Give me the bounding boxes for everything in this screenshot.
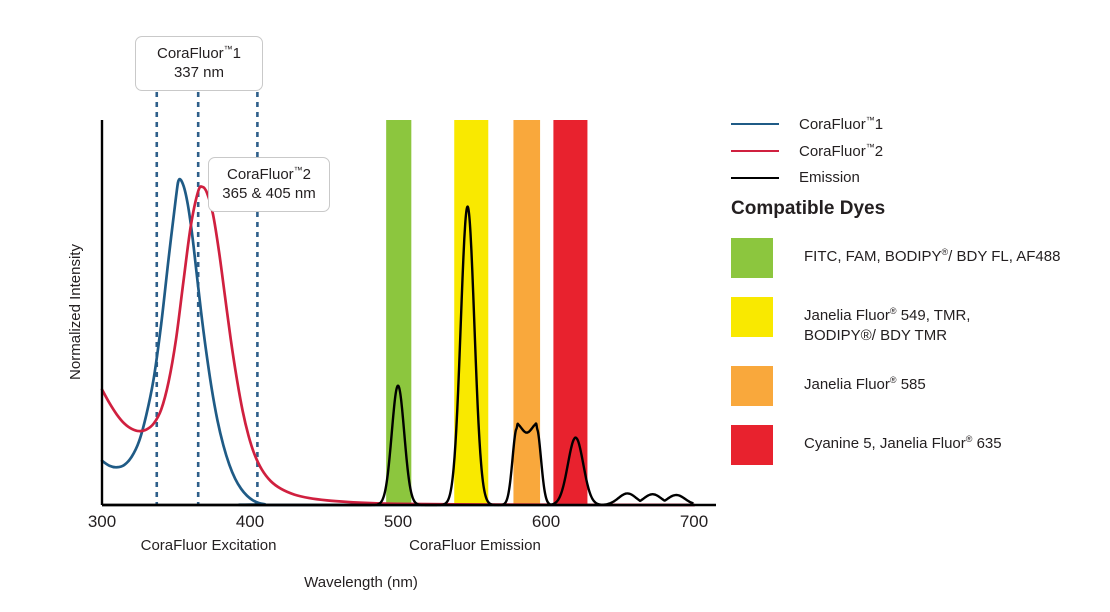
y-axis-title: Normalized Intensity: [67, 244, 84, 380]
plot-area: 300400500600700CoraFluor ExcitationCoraF…: [0, 0, 740, 612]
dye-label: FITC, FAM, BODIPY®/ BDY FL, AF488: [804, 238, 1060, 267]
legend-line-swatch: [731, 150, 779, 152]
callout1-line2: 337 nm: [149, 63, 249, 82]
trademark-symbol: ™: [294, 165, 303, 175]
callout2-line1: CoraFluor™2: [227, 166, 311, 183]
dye-color-swatch: [731, 366, 773, 406]
dye-label: Cyanine 5, Janelia Fluor® 635: [804, 425, 1002, 454]
legend-line-swatch: [731, 177, 779, 179]
callout2-line2: 365 & 405 nm: [222, 184, 316, 203]
x-tick-label-500: 500: [384, 512, 412, 531]
legend-label: CoraFluor™1: [799, 115, 883, 133]
x-tick-label-700: 700: [680, 512, 708, 531]
x-tick-label-300: 300: [88, 512, 116, 531]
dye-item-orange: Janelia Fluor® 585: [731, 366, 1106, 406]
series-legend: CoraFluor™1 CoraFluor™2 Emission: [731, 110, 1101, 191]
compatible-dyes-title: Compatible Dyes: [731, 198, 1106, 220]
trademark-symbol: ™: [866, 142, 875, 152]
callout-corafluor1: CoraFluor™1 337 nm: [135, 36, 263, 91]
dye-item-red: Cyanine 5, Janelia Fluor® 635: [731, 425, 1106, 465]
dye-label: Janelia Fluor® 549, TMR,BODIPY®/ BDY TMR: [804, 297, 970, 347]
dye-label: Janelia Fluor® 585: [804, 366, 926, 395]
trademark-symbol: ™: [866, 115, 875, 125]
legend-label: Emission: [799, 169, 860, 186]
yellow-band: [454, 120, 488, 505]
legend-label: CoraFluor™2: [799, 142, 883, 160]
callout-corafluor2: CoraFluor™2 365 & 405 nm: [208, 157, 330, 212]
orange-band: [513, 120, 540, 505]
dye-item-yellow: Janelia Fluor® 549, TMR,BODIPY®/ BDY TMR: [731, 297, 1106, 347]
compatible-dyes-section: Compatible Dyes FITC, FAM, BODIPY®/ BDY …: [731, 198, 1106, 484]
trademark-symbol: ™: [224, 44, 233, 54]
registered-symbol: ®: [890, 375, 897, 385]
legend-item-corafluor2: CoraFluor™2: [731, 137, 1101, 164]
legend-item-corafluor1: CoraFluor™1: [731, 110, 1101, 137]
x-tick-label-400: 400: [236, 512, 264, 531]
dye-item-green: FITC, FAM, BODIPY®/ BDY FL, AF488: [731, 238, 1106, 278]
legend-line-swatch: [731, 123, 779, 125]
registered-symbol: ®: [890, 306, 897, 316]
callout1-line1: CoraFluor™1: [157, 45, 241, 62]
spectral-chart-figure: 300400500600700CoraFluor ExcitationCoraF…: [0, 0, 1110, 612]
dye-color-swatch: [731, 238, 773, 278]
x-axis-title: Wavelength (nm): [304, 574, 418, 591]
dye-color-swatch: [731, 297, 773, 337]
emission-range-label: CoraFluor Emission: [409, 537, 541, 554]
dye-color-swatch: [731, 425, 773, 465]
legend-item-emission: Emission: [731, 164, 1101, 191]
plot-svg: 300400500600700CoraFluor ExcitationCoraF…: [0, 0, 740, 612]
x-tick-label-600: 600: [532, 512, 560, 531]
excitation-range-label: CoraFluor Excitation: [141, 537, 277, 554]
